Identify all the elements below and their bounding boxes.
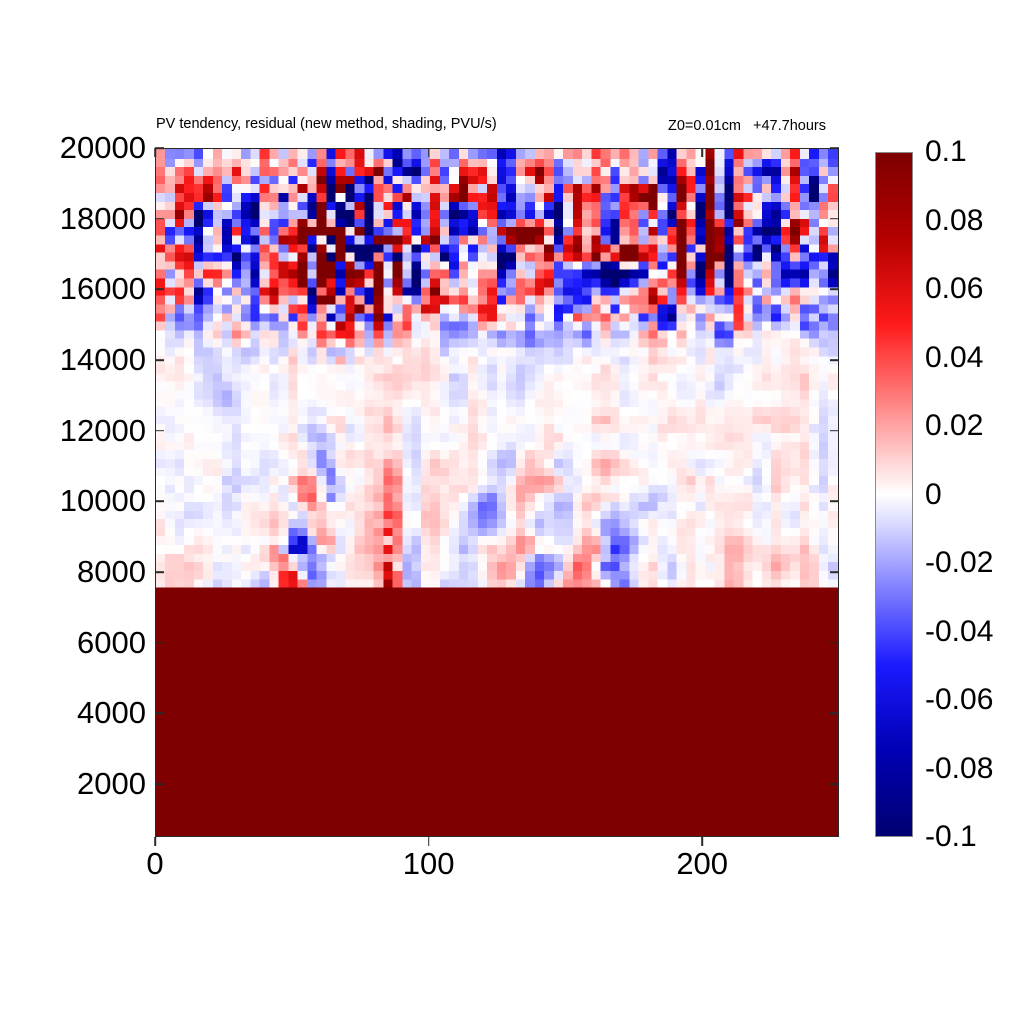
- figure-canvas: PV tendency, residual (new method, shadi…: [0, 0, 1024, 1024]
- y-axis-tick-label: 6000: [77, 625, 146, 661]
- x-axis-tick-label: 0: [146, 846, 163, 882]
- colorbar-tick-label: 0.1: [925, 135, 967, 169]
- y-axis-tick-mark-right: [830, 713, 839, 715]
- y-axis-tick-label: 20000: [60, 130, 146, 166]
- colorbar: [875, 152, 913, 837]
- x-axis-tick-label: 100: [403, 846, 455, 882]
- y-axis-tick-mark-right: [830, 359, 839, 361]
- colorbar-tick-label: -0.1: [925, 820, 977, 854]
- y-axis-tick-mark-right: [830, 783, 839, 785]
- y-axis-tick-mark: [155, 642, 164, 644]
- y-axis-tick-label: 12000: [60, 413, 146, 449]
- y-axis-tick-mark: [155, 147, 164, 149]
- y-axis-tick-mark: [155, 289, 164, 291]
- colorbar-tick-label: -0.06: [925, 683, 993, 717]
- y-axis-tick-label: 2000: [77, 766, 146, 802]
- y-axis-tick-label: 4000: [77, 695, 146, 731]
- y-axis-tick-mark-right: [830, 430, 839, 432]
- y-axis-tick-mark-right: [830, 147, 839, 149]
- y-axis-tick-mark-right: [830, 571, 839, 573]
- colorbar-tick-label: -0.04: [925, 615, 993, 649]
- y-axis-tick-mark: [155, 713, 164, 715]
- y-axis-tick-mark: [155, 571, 164, 573]
- x-axis-tick-mark: [701, 837, 703, 846]
- y-axis-tick-mark: [155, 430, 164, 432]
- colorbar-gradient: [876, 153, 912, 836]
- colorbar-tick-label: -0.02: [925, 546, 993, 580]
- y-axis-tick-label: 16000: [60, 271, 146, 307]
- y-axis-tick-labels: 2000018000160001400012000100008000600040…: [0, 0, 146, 1024]
- plot-subtitle-annotation: Z0=0.01cm +47.7hours: [668, 118, 826, 134]
- y-axis-tick-mark: [155, 359, 164, 361]
- x-axis-tick-mark: [154, 837, 156, 846]
- colorbar-tick-label: -0.08: [925, 752, 993, 786]
- y-axis-tick-mark-right: [830, 501, 839, 503]
- x-axis-tick-mark-top: [428, 148, 430, 157]
- heatmap-plot-area: [155, 148, 839, 837]
- y-axis-tick-label: 8000: [77, 554, 146, 590]
- y-axis-tick-mark: [155, 218, 164, 220]
- colorbar-tick-label: 0.06: [925, 272, 983, 306]
- x-axis-tick-mark-top: [154, 148, 156, 157]
- y-axis-tick-mark: [155, 783, 164, 785]
- y-axis-tick-mark-right: [830, 289, 839, 291]
- plot-title: PV tendency, residual (new method, shadi…: [156, 116, 497, 132]
- y-axis-tick-mark: [155, 501, 164, 503]
- x-axis-tick-label: 200: [676, 846, 728, 882]
- colorbar-tick-label: 0.02: [925, 409, 983, 443]
- heatmap-field: [156, 149, 838, 836]
- colorbar-tick-label: 0: [925, 478, 942, 512]
- y-axis-tick-mark-right: [830, 642, 839, 644]
- y-axis-tick-label: 10000: [60, 483, 146, 519]
- y-axis-tick-label: 18000: [60, 201, 146, 237]
- colorbar-tick-label: 0.08: [925, 204, 983, 238]
- colorbar-tick-label: 0.04: [925, 341, 983, 375]
- x-axis-tick-mark: [428, 837, 430, 846]
- x-axis-tick-mark-top: [701, 148, 703, 157]
- y-axis-tick-mark-right: [830, 218, 839, 220]
- y-axis-tick-label: 14000: [60, 342, 146, 378]
